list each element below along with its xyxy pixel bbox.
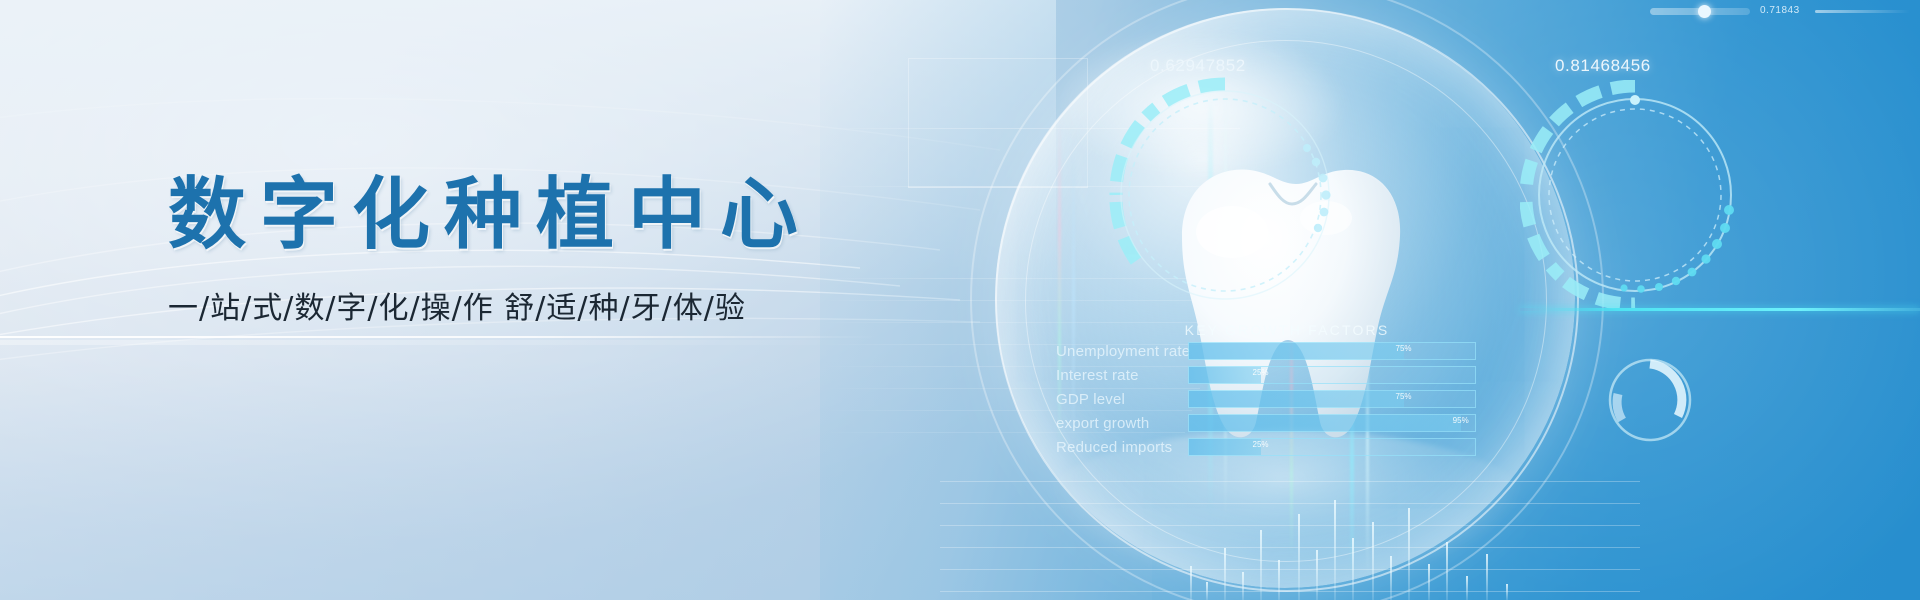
panel-row-bar: 75% [1188, 342, 1476, 360]
tech-hud-panel: 0.62947852 0.81468456 0.71843 KEY GROWTH… [820, 0, 1920, 600]
hud-bar-chart [1180, 480, 1600, 600]
panel-row: GDP level75% [1056, 388, 1476, 410]
panel-row-percent: 75% [1395, 392, 1411, 401]
panel-row-percent: 75% [1395, 344, 1411, 353]
panel-row-percent: 25% [1252, 440, 1268, 449]
panel-row-label: GDP level [1056, 391, 1188, 408]
panel-row-label: export growth [1056, 415, 1188, 432]
hud-slider-tail [1815, 10, 1910, 13]
panel-row-percent: 25% [1252, 368, 1268, 377]
hud-slider-value: 0.71843 [1760, 5, 1800, 16]
hud-accent-line [1520, 308, 1920, 311]
hud-slider-knob[interactable] [1698, 5, 1711, 18]
page-subtitle: 一/站/式/数/字/化/操/作 舒/适/种/牙/体/验 [168, 283, 928, 327]
gauge-ring-icon [1520, 80, 1750, 310]
page-title: 数字化种植中心 [168, 175, 928, 257]
readout-left: 0.62947852 [1150, 56, 1246, 76]
gauge-ring-icon [1100, 70, 1350, 320]
panel-row-bar-fill [1189, 391, 1404, 407]
title-divider [0, 336, 880, 338]
panel-row: Interest rate25% [1056, 364, 1476, 386]
panel-row-percent: 95% [1453, 416, 1469, 425]
key-growth-factors-panel: KEY GROWTH FACTORS Unemployment rate75%I… [1056, 322, 1476, 458]
panel-row: Unemployment rate75% [1056, 340, 1476, 362]
panel-row-label: Interest rate [1056, 367, 1188, 384]
banner-root: 数字化种植中心 一/站/式/数/字/化/操/作 舒/适/种/牙/体/验 [0, 0, 1920, 600]
panel-row-bar: 95% [1188, 414, 1476, 432]
gauge-arc-icon [1600, 350, 1700, 450]
panel-row-bar: 25% [1188, 366, 1476, 384]
panel-row-bar: 75% [1188, 390, 1476, 408]
title-divider-glow [0, 340, 880, 345]
panel-row: export growth95% [1056, 412, 1476, 434]
headline-block: 数字化种植中心 一/站/式/数/字/化/操/作 舒/适/种/牙/体/验 [168, 175, 928, 327]
panel-row-bar-fill [1189, 343, 1404, 359]
panel-title: KEY GROWTH FACTORS [1098, 322, 1476, 338]
panel-row-bar-fill [1189, 367, 1261, 383]
panel-row-bar-fill [1189, 415, 1461, 431]
readout-right: 0.81468456 [1555, 56, 1651, 76]
panel-row-label: Unemployment rate [1056, 343, 1188, 360]
